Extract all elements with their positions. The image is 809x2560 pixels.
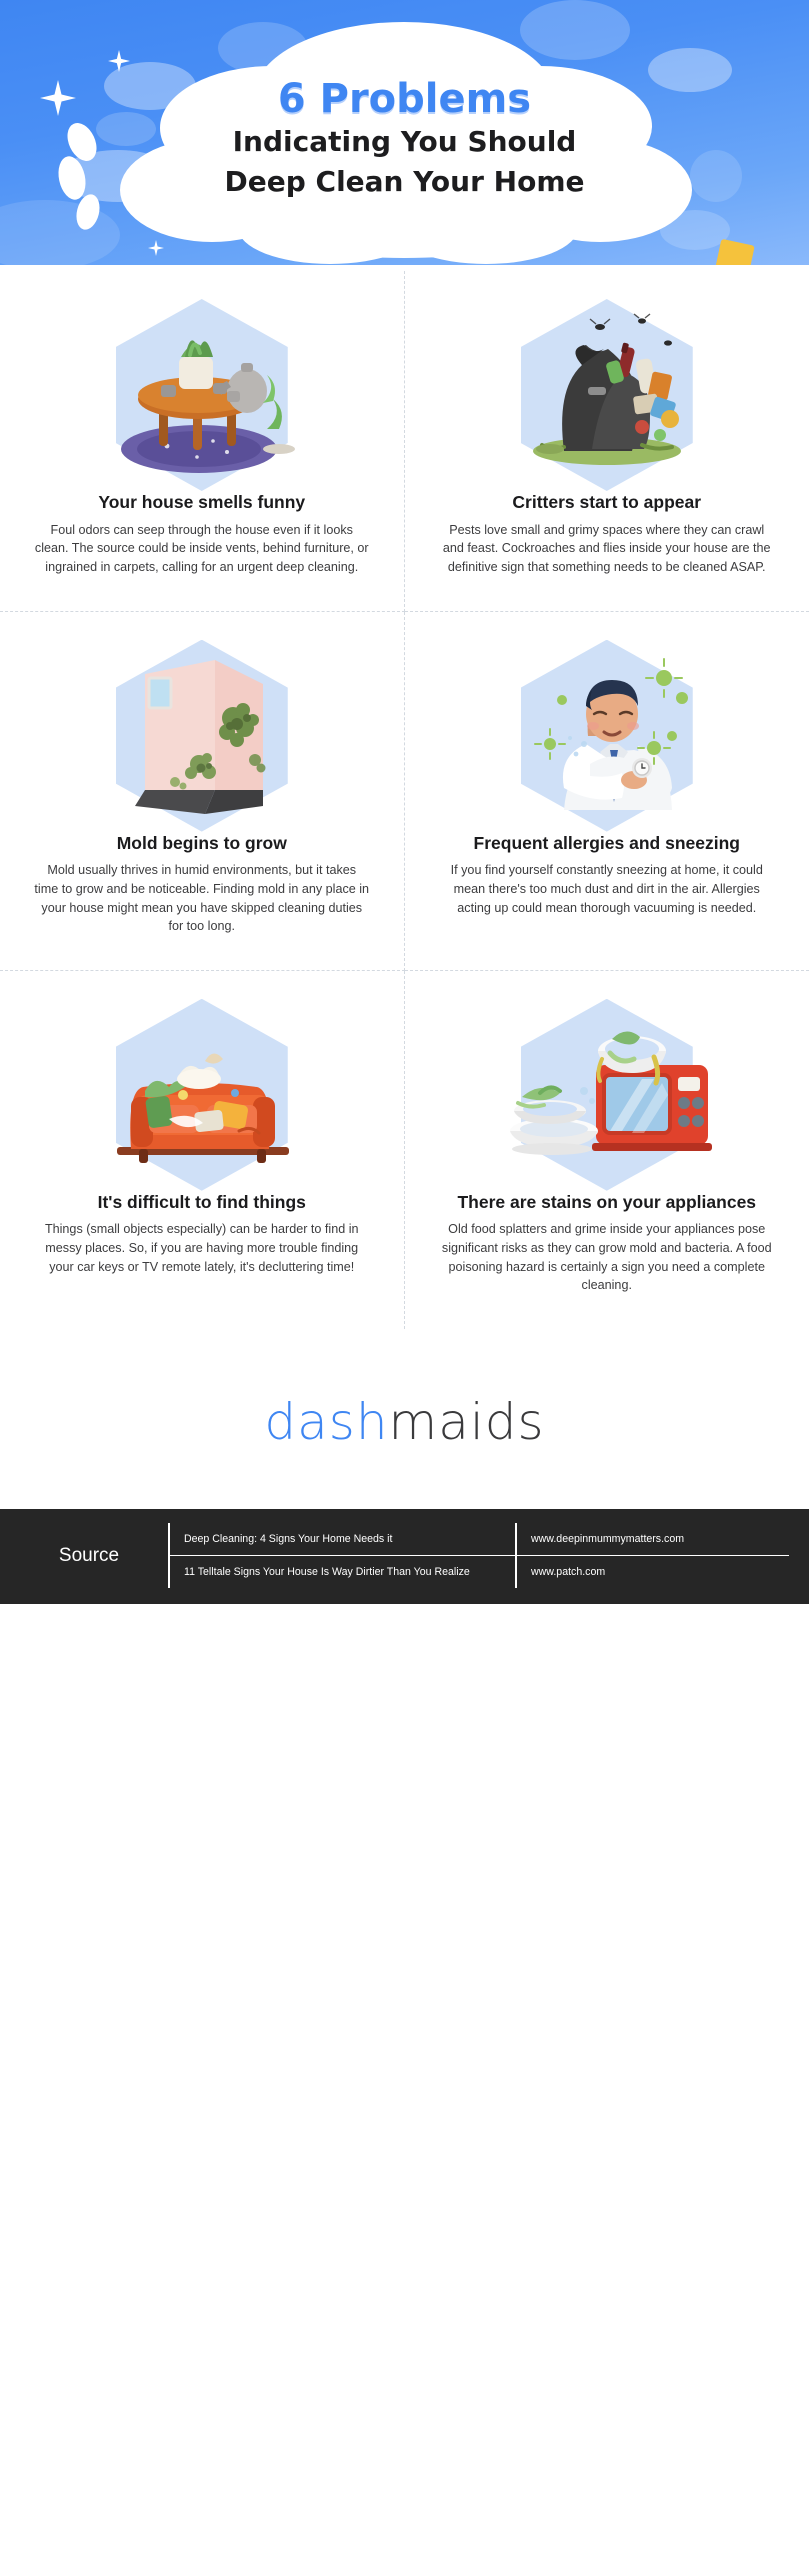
page-title-number: 6 Problems <box>0 78 809 120</box>
card-title: Critters start to appear <box>439 492 776 514</box>
infographic-page: 6 Problems Indicating You Should Deep Cl… <box>0 0 809 1604</box>
source-footer: Source Deep Cleaning: 4 Signs Your Home … <box>0 1509 809 1604</box>
problem-card-1: Your house smells funny Foul odors can s… <box>0 271 405 612</box>
source-url[interactable]: www.deepinmummymatters.com <box>517 1523 789 1555</box>
card-illustration <box>34 640 370 825</box>
problem-card-4: Frequent allergies and sneezing If you f… <box>405 612 809 971</box>
card-title: Frequent allergies and sneezing <box>439 833 776 855</box>
card-body: If you find yourself constantly sneezing… <box>439 861 776 917</box>
source-title: Deep Cleaning: 4 Signs Your Home Needs i… <box>170 1523 517 1555</box>
problem-card-5: It's difficult to find things Things (sm… <box>0 971 405 1329</box>
brand-logo-band: dashmaids <box>0 1329 809 1509</box>
page-title-line3: Deep Clean Your Home <box>0 164 809 200</box>
moldy-wall-corner-illustration <box>87 640 317 825</box>
problem-card-2: Critters start to appear Pests love smal… <box>405 271 809 612</box>
card-illustration <box>439 299 776 484</box>
card-body: Old food splatters and grime inside your… <box>439 1220 776 1295</box>
brand-logo[interactable]: dashmaids <box>0 1393 809 1451</box>
card-illustration <box>34 999 370 1184</box>
card-body: Mold usually thrives in humid environmen… <box>34 861 370 936</box>
source-title: 11 Telltale Signs Your House Is Way Dirt… <box>170 1556 517 1588</box>
card-body: Pests love small and grimy spaces where … <box>439 521 776 577</box>
problem-card-3: Mold begins to grow Mold usually thrives… <box>0 612 405 971</box>
card-title: Mold begins to grow <box>34 833 370 855</box>
card-illustration <box>34 299 370 484</box>
table-row: Deep Cleaning: 4 Signs Your Home Needs i… <box>170 1523 789 1556</box>
man-sneezing-illustration <box>492 640 722 825</box>
sparkle-icon <box>108 50 130 72</box>
source-table: Deep Cleaning: 4 Signs Your Home Needs i… <box>168 1523 789 1588</box>
problem-card-6: There are stains on your appliances Old … <box>405 971 809 1329</box>
brand-logo-maids: maids <box>389 1393 545 1451</box>
table-with-plant-and-teapot-illustration <box>87 299 317 484</box>
sparkle-icon <box>148 240 164 256</box>
card-illustration <box>439 999 776 1184</box>
card-title: It's difficult to find things <box>34 1192 370 1214</box>
card-title: Your house smells funny <box>34 492 370 514</box>
card-body: Foul odors can seep through the house ev… <box>34 521 370 577</box>
brand-logo-dash: dash <box>264 1393 388 1451</box>
source-url[interactable]: www.patch.com <box>517 1556 789 1588</box>
overflowing-garbage-bag-illustration <box>492 299 722 484</box>
header-title-block: 6 Problems Indicating You Should Deep Cl… <box>0 78 809 200</box>
sparkle-icon <box>322 44 344 66</box>
header-banner: 6 Problems Indicating You Should Deep Cl… <box>0 0 809 265</box>
source-label: Source <box>20 1523 168 1588</box>
table-row: 11 Telltale Signs Your House Is Way Dirt… <box>170 1556 789 1588</box>
card-body: Things (small objects especially) can be… <box>34 1220 370 1276</box>
page-title-line2: Indicating You Should <box>0 124 809 160</box>
card-title: There are stains on your appliances <box>439 1192 776 1214</box>
messy-couch-illustration <box>87 999 317 1184</box>
problem-cards-grid: Your house smells funny Foul odors can s… <box>0 265 809 1329</box>
dirty-microwave-and-dishes-illustration <box>492 999 722 1184</box>
card-illustration <box>439 640 776 825</box>
